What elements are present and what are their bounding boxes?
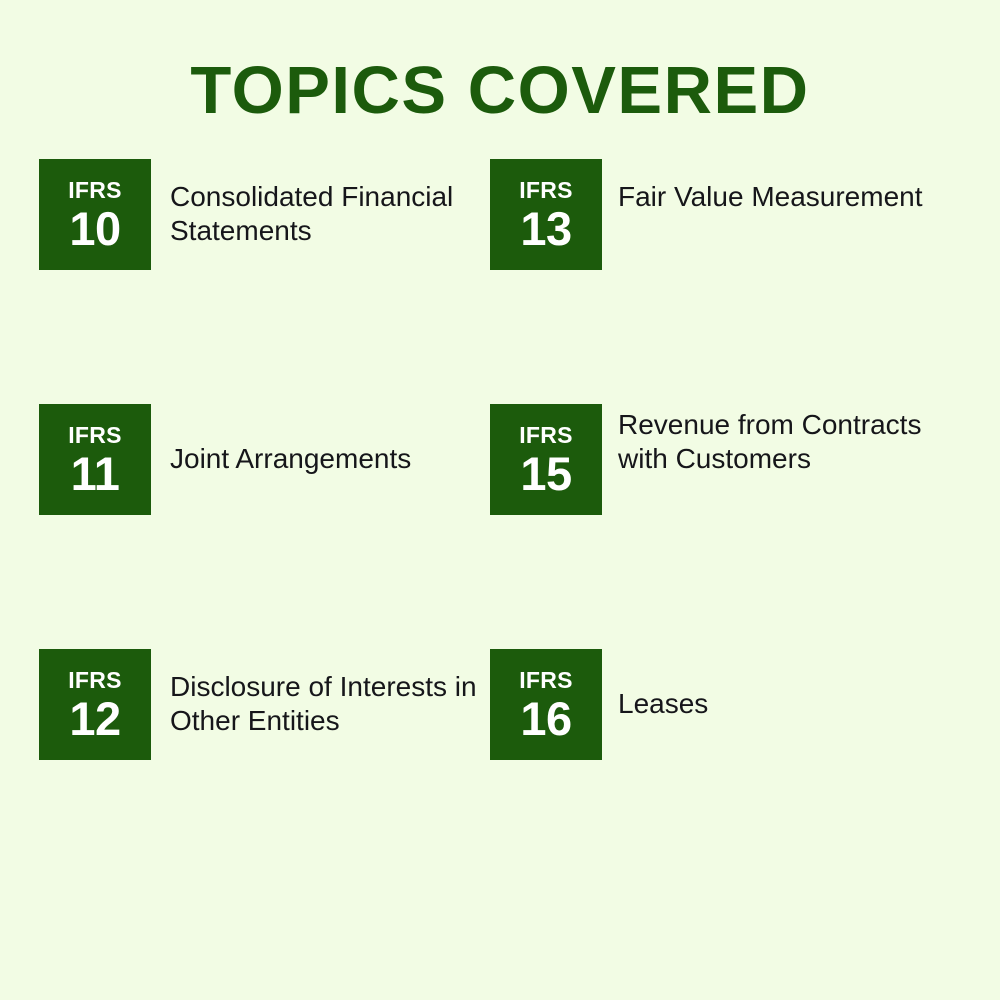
topic-item-ifrs-10[interactable]: IFRS 10 Consolidated Financial Statement…	[39, 159, 490, 270]
slide-canvas: TOPICS COVERED IFRS 10 Consolidated Fina…	[0, 0, 1000, 1000]
badge-number-label: 13	[520, 204, 571, 254]
badge-number-label: 11	[71, 449, 120, 499]
badge-standard-label: IFRS	[68, 668, 122, 693]
topic-label: Joint Arrangements	[151, 404, 490, 476]
badge-standard-label: IFRS	[519, 178, 573, 203]
badge-ifrs-15: IFRS 15	[490, 404, 602, 515]
topic-label: Leases	[602, 649, 961, 721]
badge-standard-label: IFRS	[68, 178, 122, 203]
topic-item-ifrs-11[interactable]: IFRS 11 Joint Arrangements	[39, 404, 490, 515]
topic-item-ifrs-16[interactable]: IFRS 16 Leases	[490, 649, 961, 760]
topic-label: Fair Value Measurement	[602, 159, 961, 214]
topic-label: Consolidated Financial Statements	[151, 159, 490, 248]
badge-ifrs-16: IFRS 16	[490, 649, 602, 760]
topic-item-ifrs-15[interactable]: IFRS 15 Revenue from Contracts with Cust…	[490, 404, 961, 515]
topic-label: Disclosure of Interests in Other Entitie…	[151, 649, 490, 738]
badge-standard-label: IFRS	[519, 423, 573, 448]
badge-standard-label: IFRS	[519, 668, 573, 693]
badge-number-label: 15	[520, 449, 571, 499]
badge-ifrs-11: IFRS 11	[39, 404, 151, 515]
topic-item-ifrs-13[interactable]: IFRS 13 Fair Value Measurement	[490, 159, 961, 270]
badge-ifrs-10: IFRS 10	[39, 159, 151, 270]
badge-ifrs-12: IFRS 12	[39, 649, 151, 760]
topic-label: Revenue from Contracts with Customers	[602, 404, 961, 476]
topics-grid: IFRS 10 Consolidated Financial Statement…	[39, 159, 961, 894]
badge-number-label: 10	[69, 204, 120, 254]
page-title: TOPICS COVERED	[0, 52, 1000, 130]
badge-number-label: 12	[69, 694, 120, 744]
badge-ifrs-13: IFRS 13	[490, 159, 602, 270]
badge-number-label: 16	[520, 694, 571, 744]
badge-standard-label: IFRS	[68, 423, 122, 448]
topic-item-ifrs-12[interactable]: IFRS 12 Disclosure of Interests in Other…	[39, 649, 490, 760]
